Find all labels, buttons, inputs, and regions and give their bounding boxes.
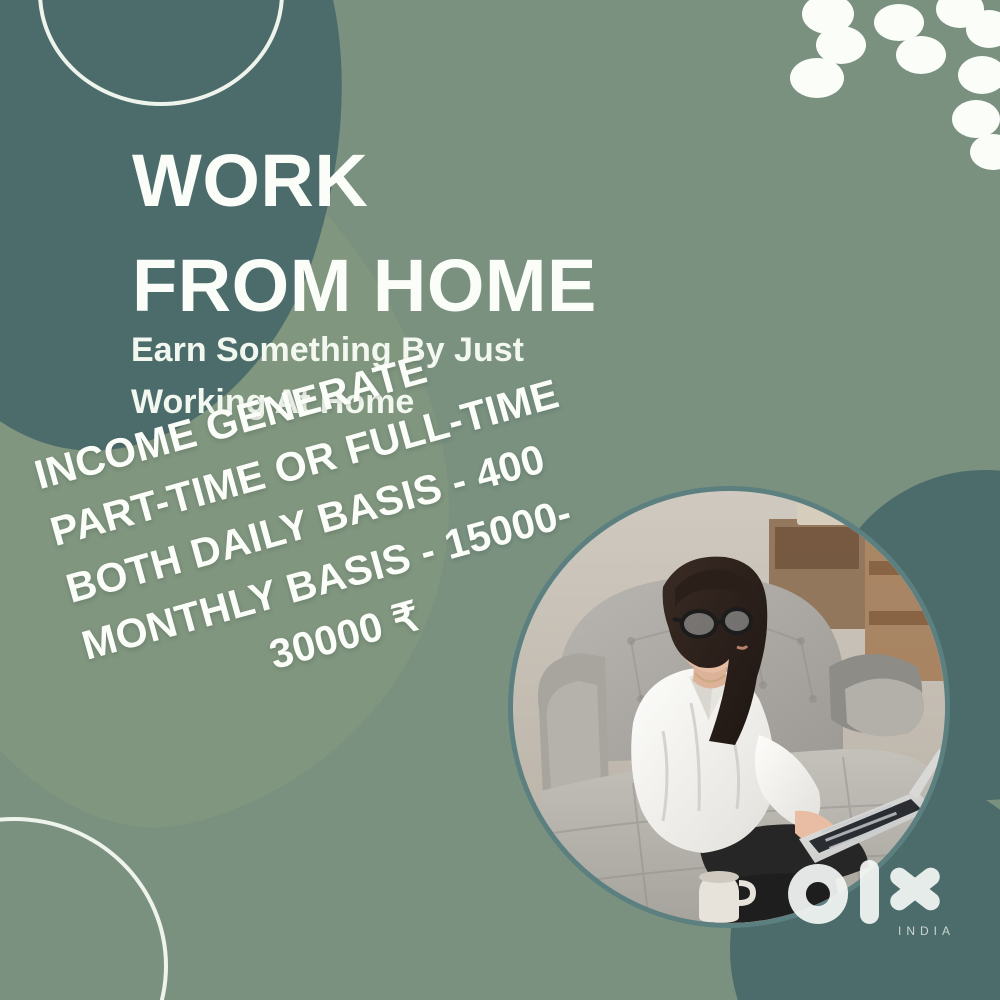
page-title: WORK FROM HOME bbox=[132, 128, 597, 338]
photo-circle bbox=[508, 486, 950, 928]
headline-line-1: WORK bbox=[132, 139, 368, 222]
poster-canvas: WORK FROM HOME Earn Something By Just Wo… bbox=[0, 0, 1000, 1000]
photo-woman-with-laptop bbox=[513, 491, 945, 923]
